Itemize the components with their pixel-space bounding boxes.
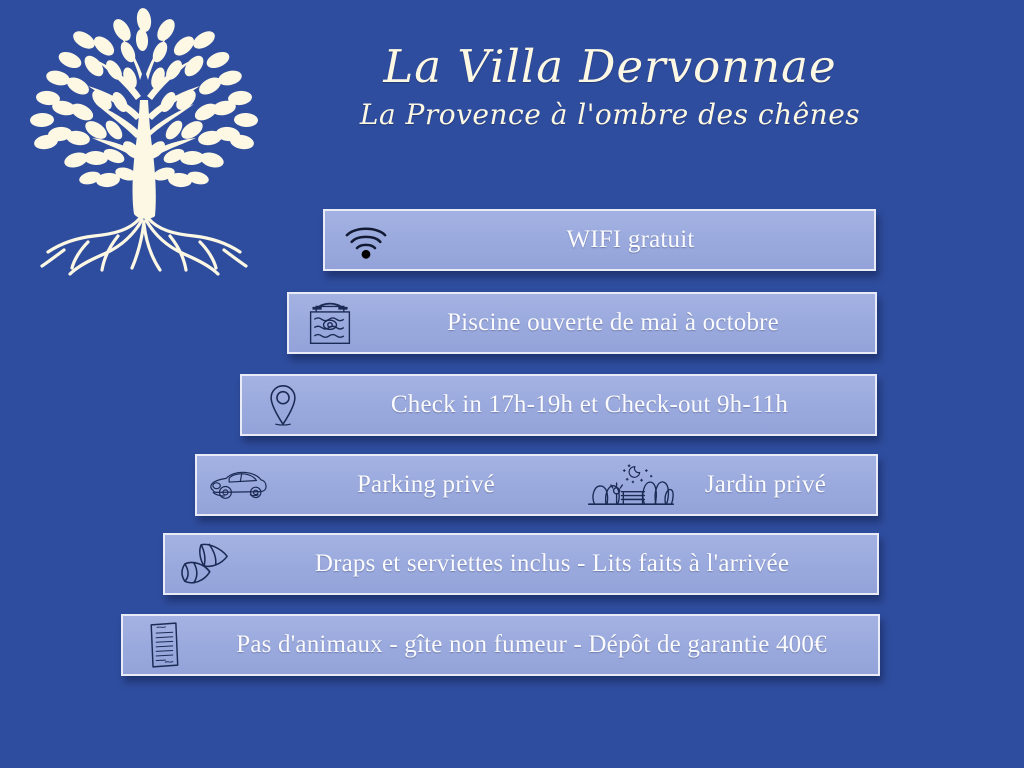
document-icon [133, 618, 195, 672]
amenity-bar-linens: Draps et serviettes inclus - Lits faits … [163, 533, 879, 595]
amenity-label: Check in 17h-19h et Check-out 9h-11h [314, 391, 865, 419]
amenity-bar-parking-garden: Parking privé [195, 454, 878, 516]
page-subtitle: La Provence à l'ombre des chênes [300, 101, 920, 129]
tree-of-life-logo [18, 4, 270, 294]
amenity-bar-wifi: WIFI gratuit [323, 209, 876, 271]
page-title: La Villa Dervonnae [300, 44, 920, 89]
amenity-label: Pas d'animaux - gîte non fumeur - Dépôt … [195, 631, 868, 659]
amenity-label: WIFI gratuit [397, 226, 864, 254]
wifi-icon [335, 213, 397, 267]
amenity-bar-rules: Pas d'animaux - gîte non fumeur - Dépôt … [121, 614, 880, 676]
amenity-label: Draps et serviettes inclus - Lits faits … [237, 550, 867, 578]
garden-bench-icon [583, 458, 679, 512]
car-icon [207, 458, 269, 512]
amenity-label: Parking privé [331, 471, 521, 499]
swimming-pool-icon [299, 296, 361, 350]
amenity-label: Piscine ouverte de mai à octobre [361, 309, 865, 337]
amenity-bar-checkin: Check in 17h-19h et Check-out 9h-11h [240, 374, 877, 436]
amenity-label-secondary: Jardin privé [679, 471, 866, 499]
amenity-bar-pool: Piscine ouverte de mai à octobre [287, 292, 877, 354]
folded-linens-icon [175, 537, 237, 591]
header: La Villa Dervonnae La Provence à l'ombre… [300, 44, 920, 129]
location-pin-icon [252, 378, 314, 432]
